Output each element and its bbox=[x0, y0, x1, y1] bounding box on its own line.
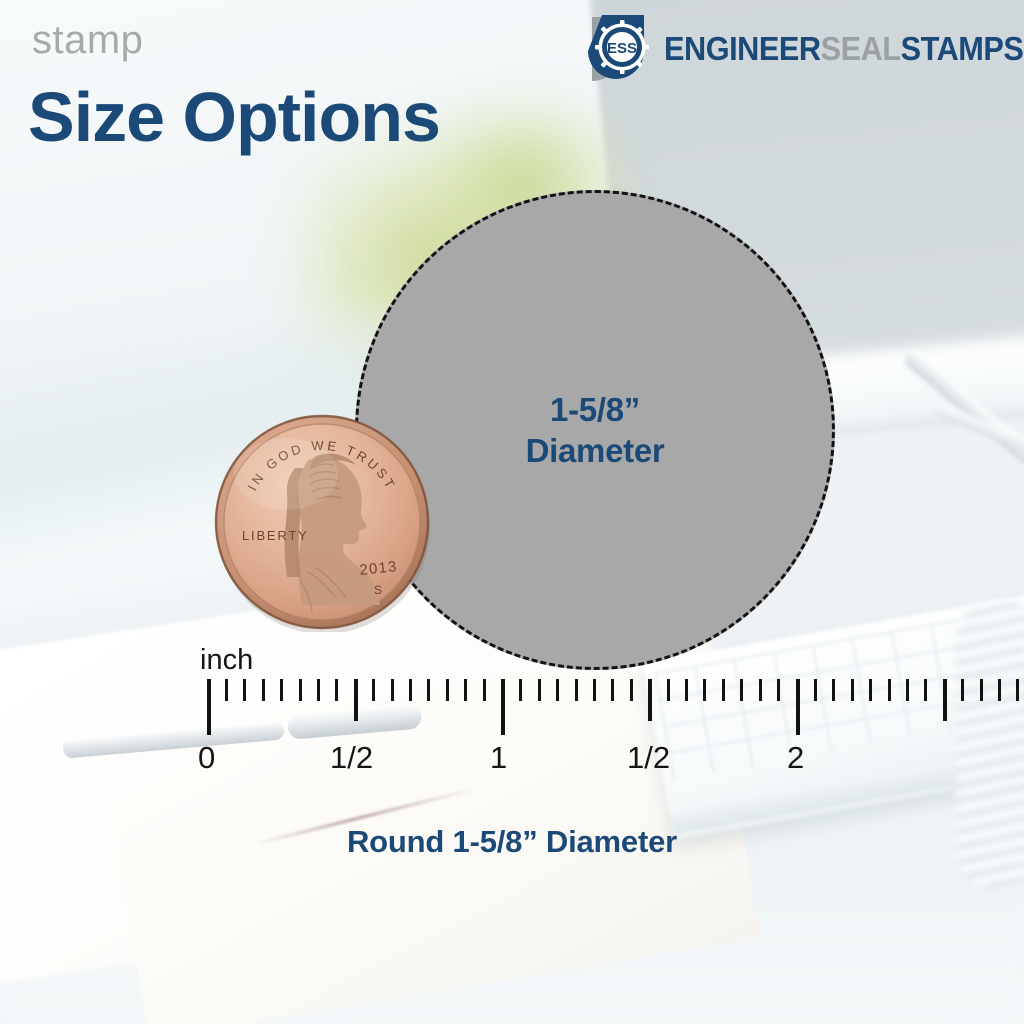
brand-logo[interactable]: ESS ENGINEER SEAL STAMPS .COM bbox=[588, 12, 1012, 84]
ruler-tick bbox=[391, 679, 394, 701]
ruler-tick bbox=[630, 679, 633, 701]
wordmark-engineer: ENGINEER bbox=[664, 32, 821, 65]
ruler-tick bbox=[427, 679, 430, 701]
ruler-tick bbox=[519, 679, 522, 701]
kicker-label: stamp bbox=[32, 20, 143, 60]
ruler-tick bbox=[906, 679, 909, 701]
ruler-number-label: 1/2 bbox=[627, 742, 670, 773]
stamp-size-line-2: Diameter bbox=[526, 430, 665, 471]
ruler-tick bbox=[832, 679, 835, 701]
ruler-tick bbox=[740, 679, 743, 701]
ruler-tick bbox=[335, 679, 338, 701]
size-caption: Round 1-5/8” Diameter bbox=[0, 824, 1024, 860]
ruler-tick bbox=[924, 679, 927, 701]
ruler-tick bbox=[943, 679, 947, 721]
wordmark-stamps: STAMPS bbox=[901, 32, 1024, 65]
coin-mint-mark-text: S bbox=[374, 583, 382, 597]
ruler-tick bbox=[354, 679, 358, 721]
ruler-tick bbox=[317, 679, 320, 701]
ruler-tick bbox=[280, 679, 283, 701]
ruler-tick bbox=[869, 679, 872, 701]
ruler-tick bbox=[961, 679, 964, 701]
size-options-graphic: stamp Size Options bbox=[0, 0, 1024, 1024]
ruler-tick bbox=[575, 679, 578, 701]
ruler-tick bbox=[299, 679, 302, 701]
svg-text:ESS: ESS bbox=[607, 40, 637, 57]
ruler-tick bbox=[207, 679, 211, 735]
ruler-tick bbox=[777, 679, 780, 701]
ruler-tick bbox=[667, 679, 670, 701]
ruler-tick bbox=[243, 679, 246, 701]
ruler-tick bbox=[722, 679, 725, 701]
ruler-tick bbox=[980, 679, 983, 701]
ruler-number-label: 2 bbox=[787, 742, 804, 773]
ruler-tick bbox=[538, 679, 541, 701]
wordmark-seal: SEAL bbox=[821, 32, 901, 65]
ruler-tick bbox=[464, 679, 467, 701]
reference-coin-penny: IN GOD WE TRUST LIBERTY 2013 S bbox=[212, 412, 432, 632]
ruler-tick bbox=[888, 679, 891, 701]
ruler-tick bbox=[556, 679, 559, 701]
ruler-tick bbox=[611, 679, 614, 701]
ruler-tick bbox=[703, 679, 706, 701]
stamp-size-line-1: 1-5/8” bbox=[550, 389, 640, 430]
ruler-number-label: 0 bbox=[198, 742, 215, 773]
ruler-unit-label: inch bbox=[200, 644, 253, 677]
ess-seal-icon: ESS bbox=[588, 13, 658, 83]
brand-wordmark: ENGINEER SEAL STAMPS .COM bbox=[664, 30, 1024, 65]
ruler-tick bbox=[814, 679, 817, 701]
ruler-tick bbox=[262, 679, 265, 701]
ruler-tick bbox=[446, 679, 449, 701]
ruler-tick bbox=[483, 679, 486, 701]
ruler-tick bbox=[593, 679, 596, 701]
ruler-tick bbox=[851, 679, 854, 701]
ruler-tick bbox=[409, 679, 412, 701]
ruler-tick bbox=[759, 679, 762, 701]
ruler-tick bbox=[998, 679, 1001, 701]
ruler-tick bbox=[648, 679, 652, 721]
ruler-number-label: 1 bbox=[490, 742, 507, 773]
coin-liberty-text: LIBERTY bbox=[242, 528, 309, 543]
ruler-tick bbox=[796, 679, 800, 735]
ruler-tick bbox=[372, 679, 375, 701]
ruler-tick bbox=[1016, 679, 1019, 701]
page-title: Size Options bbox=[28, 82, 440, 152]
ruler-tick bbox=[501, 679, 505, 735]
ruler-tick bbox=[685, 679, 688, 701]
ruler-tick bbox=[225, 679, 228, 701]
ruler-number-label: 1/2 bbox=[330, 742, 373, 773]
